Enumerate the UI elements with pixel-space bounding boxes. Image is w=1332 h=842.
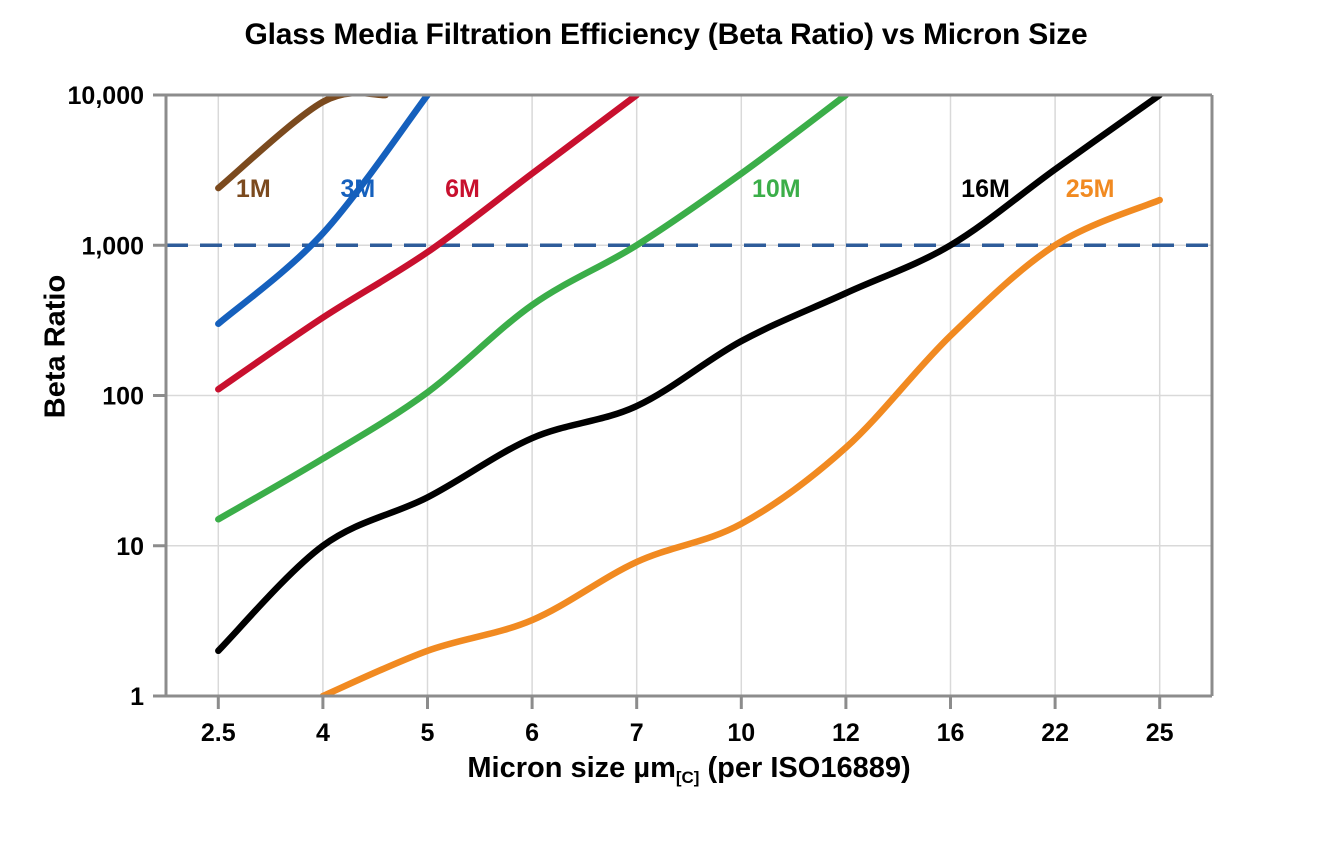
series-label-3m: 3M	[341, 175, 376, 203]
series-label-6m: 6M	[445, 175, 480, 203]
x-tick-label: 22	[1041, 719, 1069, 747]
x-axis-title-suffix: (per ISO16889)	[699, 752, 910, 784]
x-tick-label: 10	[727, 719, 755, 747]
x-tick-label: 12	[832, 719, 860, 747]
x-tick-label: 25	[1146, 719, 1174, 747]
y-tick-label: 10	[116, 533, 144, 561]
x-tick-label: 5	[421, 719, 435, 747]
x-tick-label: 2.5	[201, 719, 236, 747]
y-tick-label: 1,000	[81, 232, 144, 260]
x-tick-label: 7	[630, 719, 644, 747]
y-tick-label: 10,000	[68, 82, 144, 110]
series-label-25m: 25M	[1066, 175, 1115, 203]
y-axis-title: Beta Ratio	[40, 197, 73, 497]
x-tick-label: 4	[316, 719, 330, 747]
x-axis-title: Micron size µm[C] (per ISO16889)	[166, 752, 1212, 788]
x-tick-label: 6	[525, 719, 539, 747]
series-label-10m: 10M	[752, 175, 801, 203]
chart-canvas: Glass Media Filtration Efficiency (Beta …	[0, 0, 1332, 842]
x-tick-label: 16	[937, 719, 965, 747]
series-inline-labels: 1M3M6M10M16M25M	[236, 175, 1114, 203]
y-tick-label: 100	[102, 383, 144, 411]
series-label-16m: 16M	[961, 175, 1010, 203]
grid-lines	[166, 95, 1212, 696]
series-label-1m: 1M	[236, 175, 271, 203]
beta-ratio-line-chart: 1101001,00010,0002.545671012162225 1M3M6…	[0, 0, 1332, 842]
x-axis-title-main: Micron size µm	[467, 752, 675, 784]
x-axis-title-subscript: [C]	[676, 768, 700, 787]
y-tick-label: 1	[130, 683, 144, 711]
